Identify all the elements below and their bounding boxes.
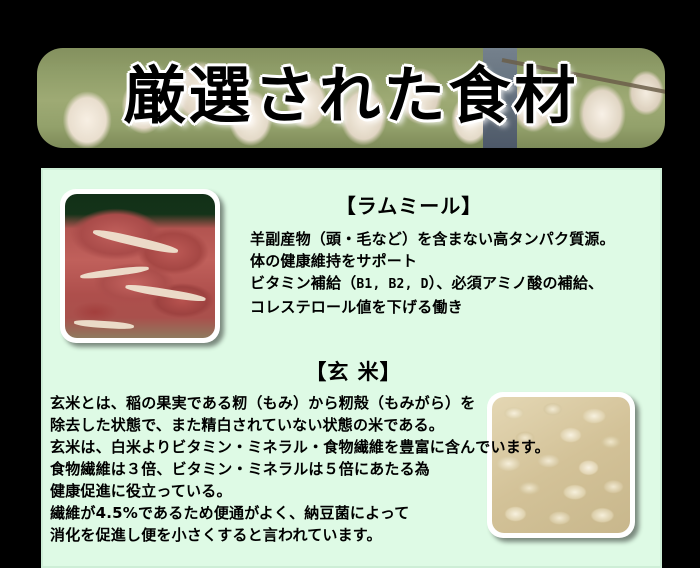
vitamin-prefix: ビタミン補給（ [250,274,356,292]
brown-rice-heading: 【玄 米】 [43,356,664,386]
lamb-line-3: ビタミン補給（B1, B2, D）、必須アミノ酸の補給、 [250,272,650,296]
lamb-line-1: 羊副産物（頭・毛など）を含まない高タンパク質源。 [250,228,650,250]
header-banner: 厳選された食材 [37,48,665,148]
vitamin-list: B1, B2, D [356,277,428,292]
lamb-meal-description: 羊副産物（頭・毛など）を含まない高タンパク質源。 体の健康維持をサポート ビタミ… [250,228,650,318]
meat-marbling [74,319,134,330]
brown-rice-photo [487,392,635,538]
content-panel: 【ラムミール】 羊副産物（頭・毛など）を含まない高タンパク質源。 体の健康維持を… [41,168,662,568]
lamb-line-4: コレステロール値を下げる働き [250,296,650,318]
page-title: 厳選された食材 [37,48,665,148]
meat-marbling [125,283,206,304]
lamb-meal-heading: 【ラムミール】 [178,190,640,219]
meat-marbling [80,265,149,280]
vitamin-suffix: ）、必須アミノ酸の補給、 [429,274,604,292]
lamb-line-2: 体の健康維持をサポート [250,250,650,272]
brown-rice-image-inner [492,397,630,533]
meat-marbling [92,228,179,256]
